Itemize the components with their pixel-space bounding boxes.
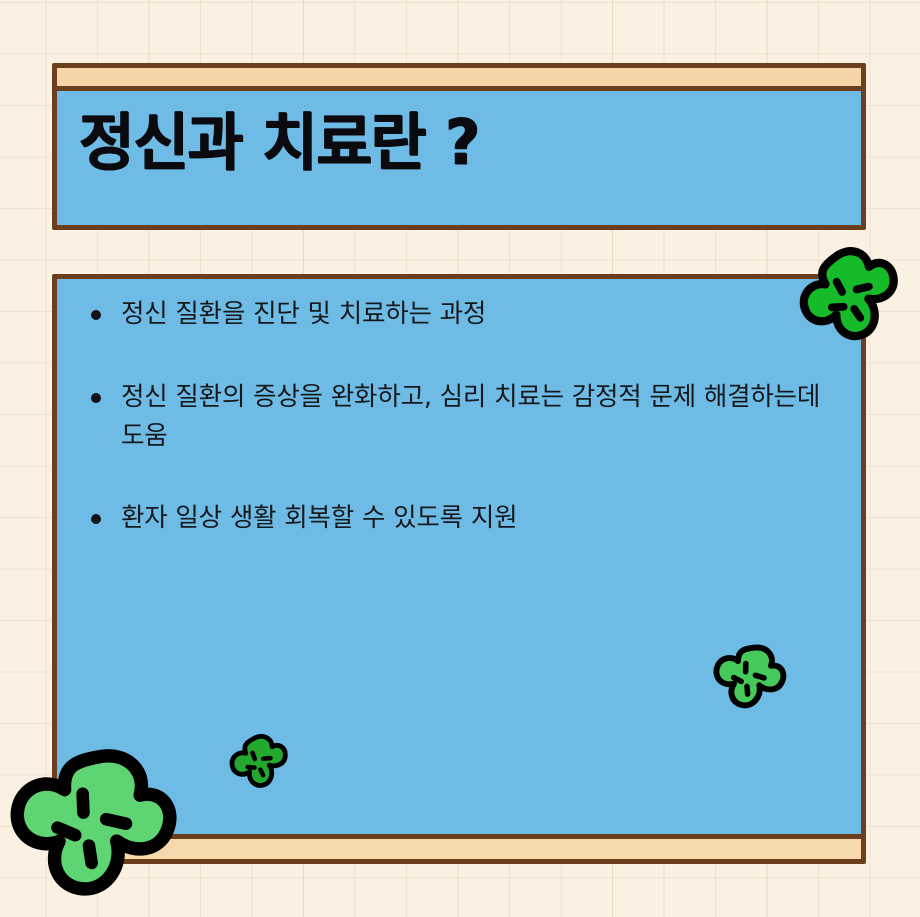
title-card: 정신과 치료란 ? <box>52 63 866 230</box>
title-card-accent-strip <box>57 68 861 91</box>
list-item: 정신 질환을 진단 및 치료하는 과정 <box>85 295 841 334</box>
bullet-list: 정신 질환을 진단 및 치료하는 과정 정신 질환의 증상을 완화하고, 심리 … <box>85 295 841 582</box>
list-item: 정신 질환의 증상을 완화하고, 심리 치료는 감정적 문제 해결하는데 도움 <box>85 378 821 456</box>
content-card: 정신 질환을 진단 및 치료하는 과정 정신 질환의 증상을 완화하고, 심리 … <box>52 274 866 864</box>
content-card-accent-strip <box>57 834 861 859</box>
slide-canvas: 정신과 치료란 ? 정신 질환을 진단 및 치료하는 과정 정신 질환의 증상을… <box>0 0 920 917</box>
list-item: 환자 일상 생활 회복할 수 있도록 지원 <box>85 499 841 538</box>
page-title: 정신과 치료란 ? <box>79 110 479 175</box>
